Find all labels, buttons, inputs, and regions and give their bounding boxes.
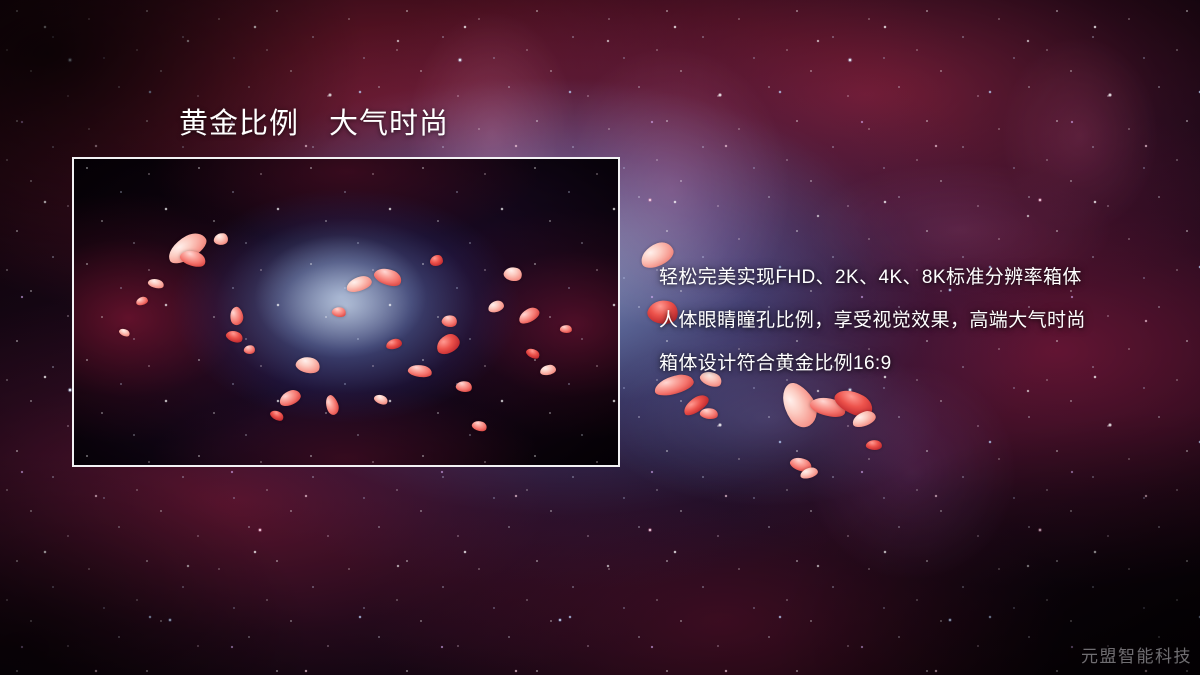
photo-nebula-layer (74, 159, 618, 465)
body-text-block: 轻松完美实现FHD、2K、4K、8K标准分辨率箱体 人体眼睛瞳孔比例，享受视觉效… (659, 256, 1179, 385)
flower-petal (224, 328, 244, 345)
flower-petal (525, 346, 542, 361)
flower-petal (345, 274, 374, 294)
flower-petal (865, 439, 882, 451)
flower-petal (516, 305, 541, 326)
flower-petal (699, 406, 719, 421)
flower-petal (502, 264, 524, 283)
flower-petal (455, 379, 473, 394)
flower-petal (178, 247, 208, 271)
photo-starfield-layer (74, 159, 618, 465)
flower-petal (372, 264, 404, 290)
flower-petal (441, 313, 459, 329)
body-line-2: 人体眼睛瞳孔比例，享受视觉效果，高端大气时尚 (659, 299, 1179, 342)
flower-petal (487, 299, 505, 313)
flower-petal (228, 306, 245, 327)
flower-petal (407, 363, 433, 380)
flower-petal (540, 364, 557, 376)
flower-petal (331, 305, 347, 318)
flower-petal (471, 419, 489, 434)
framed-photo (72, 157, 620, 467)
slide-title: 黄金比例 大气时尚 (179, 100, 449, 142)
flower-petal (373, 392, 390, 407)
body-line-3: 箱体设计符合黄金比例16:9 (659, 342, 1179, 385)
body-line-1: 轻松完美实现FHD、2K、4K、8K标准分辨率箱体 (659, 256, 1179, 299)
flower-petal (269, 408, 286, 423)
flower-petal (559, 324, 572, 334)
flower-petal (434, 331, 463, 356)
flower-petal (118, 327, 131, 339)
flower-petal (147, 277, 165, 291)
photo-petals-group (74, 159, 618, 465)
flower-petal (294, 354, 322, 377)
flower-petal (163, 228, 210, 267)
flower-petal (277, 388, 302, 408)
flower-petal (323, 393, 342, 416)
flower-petal (385, 338, 402, 350)
flower-petal (430, 255, 443, 266)
presentation-slide: 黄金比例 大气时尚 轻松完美实现FHD、2K、4K、8K标准分辨率箱体 人体眼睛… (0, 0, 1200, 675)
flower-petal (213, 232, 229, 246)
watermark-text: 元盟智能科技 (1081, 642, 1192, 667)
flower-petal (243, 344, 256, 355)
flower-petal (135, 296, 148, 306)
